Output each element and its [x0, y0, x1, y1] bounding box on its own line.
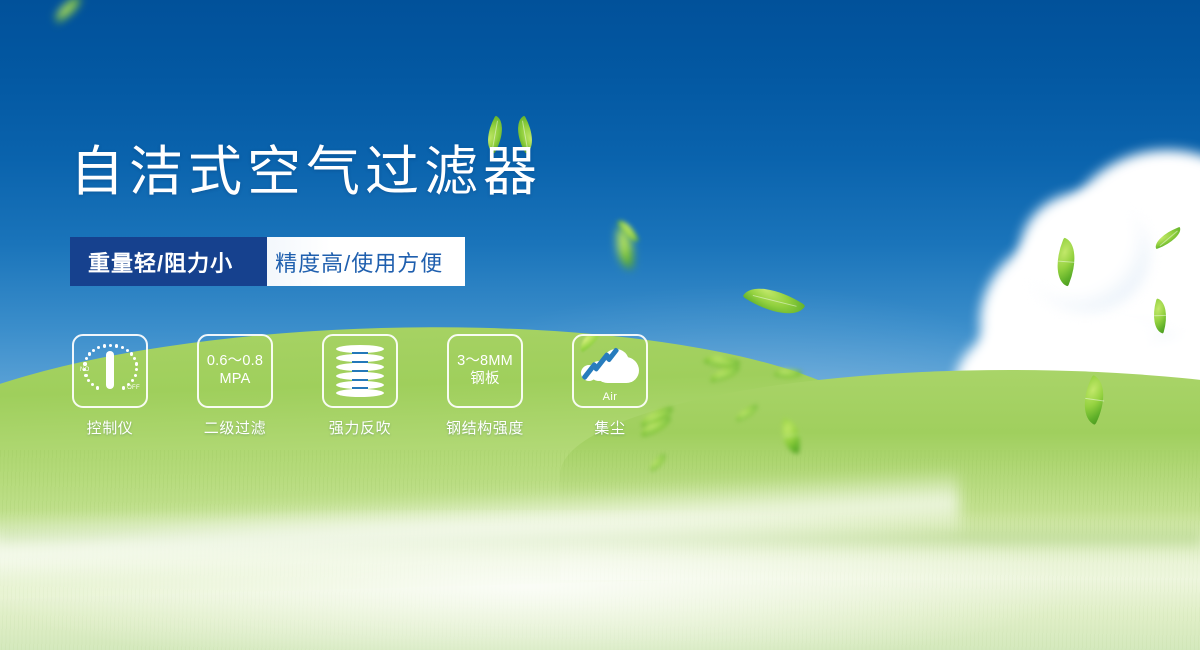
feature-label: 集尘: [594, 417, 625, 438]
feature-item-pulse-blowback[interactable]: 强力反吹: [320, 334, 400, 438]
subtitle-bar: 重量轻/阻力小 精度高/使用方便: [70, 237, 465, 286]
feature-label: 钢结构强度: [446, 417, 524, 438]
subtitle-left-text: 重量轻/阻力小: [88, 246, 233, 278]
feature-label: 二级过滤: [204, 417, 266, 438]
dial-off-label: OFF: [127, 385, 140, 391]
subtitle-left-box: 重量轻/阻力小: [70, 237, 267, 286]
feature-item-steel-strength[interactable]: 3～8MM 钢板 钢结构强度: [445, 334, 525, 438]
feature-list: NO OFF 控制仪 0.6～0.8 MPA 二级过滤: [70, 334, 650, 438]
subtitle-right-box: 精度高/使用方便: [241, 237, 465, 286]
grass-sunlight-sheen: [0, 510, 1200, 650]
feature-icon-box: NO OFF: [72, 334, 148, 408]
feature-item-controller[interactable]: NO OFF 控制仪: [70, 334, 150, 438]
feature-icon-box: Air: [572, 334, 648, 408]
feature-icon-box: 0.6～0.8 MPA: [197, 334, 273, 408]
feature-icon-box: 3～8MM 钢板: [447, 334, 523, 408]
product-banner: 自洁式空气过滤器 重量轻/阻力小 精度高/使用方便: [0, 0, 1200, 650]
dial-gauge-icon: NO OFF: [80, 343, 140, 399]
feature-icon-box: [322, 334, 398, 408]
steel-thickness-text: 3～8MM: [457, 353, 513, 371]
feature-label: 强力反吹: [329, 417, 391, 438]
air-label: Air: [581, 391, 639, 403]
air-cloud-icon: Air: [581, 347, 639, 391]
dial-no-label: NO: [80, 367, 90, 373]
feature-item-two-stage-filter[interactable]: 0.6～0.8 MPA 二级过滤: [195, 334, 275, 438]
feature-label: 控制仪: [87, 417, 134, 438]
steel-plate-text: 钢板: [470, 371, 499, 389]
pressure-value-text: 0.6～0.8: [207, 353, 263, 371]
subtitle-right-text: 精度高/使用方便: [275, 246, 443, 278]
filter-stack-icon: [336, 345, 384, 397]
feature-item-dust-collection[interactable]: Air 集尘: [570, 334, 650, 438]
pressure-unit-text: MPA: [220, 371, 251, 389]
dial-needle: [106, 351, 114, 389]
page-title: 自洁式空气过滤器: [70, 142, 542, 202]
